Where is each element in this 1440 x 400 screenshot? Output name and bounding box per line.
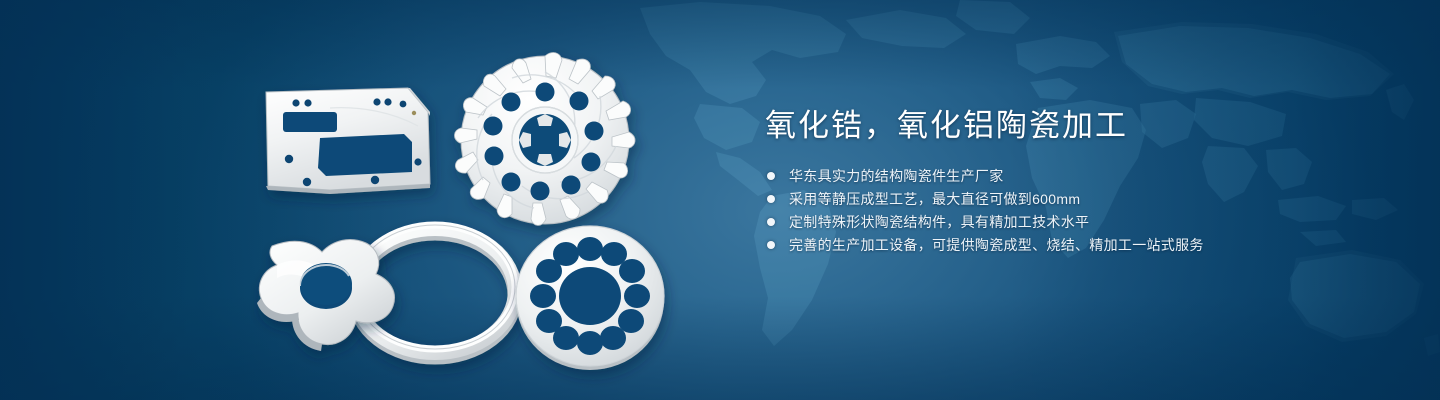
product-photo-cluster	[0, 0, 720, 400]
ceramic-plate-part	[266, 88, 430, 194]
bullet-dot-icon	[767, 218, 775, 226]
list-item-label: 定制特殊形状陶瓷结构件，具有精加工技术水平	[789, 214, 1089, 230]
bullet-dot-icon	[767, 195, 775, 203]
ceramic-perforated-disc-part	[516, 226, 664, 370]
bullet-dot-icon	[767, 241, 775, 249]
list-item: 采用等静压成型工艺，最大直径可做到600mm	[763, 191, 1383, 207]
list-item: 定制特殊形状陶瓷结构件，具有精加工技术水平	[763, 214, 1383, 230]
list-item-label: 采用等静压成型工艺，最大直径可做到600mm	[789, 191, 1080, 207]
feature-list: 华东具实力的结构陶瓷件生产厂家 采用等静压成型工艺，最大直径可做到600mm 定…	[763, 168, 1383, 253]
page-title: 氧化锆，氧化铝陶瓷加工	[765, 106, 1383, 146]
ceramic-impeller-part	[454, 53, 635, 226]
hero-banner: 氧化锆，氧化铝陶瓷加工 华东具实力的结构陶瓷件生产厂家 采用等静压成型工艺，最大…	[0, 0, 1440, 400]
bullet-dot-icon	[767, 172, 775, 180]
list-item: 华东具实力的结构陶瓷件生产厂家	[763, 168, 1383, 184]
list-item: 完善的生产加工设备，可提供陶瓷成型、烧结、精加工一站式服务	[763, 237, 1383, 253]
list-item-label: 完善的生产加工设备，可提供陶瓷成型、烧结、精加工一站式服务	[789, 237, 1204, 253]
banner-copy: 氧化锆，氧化铝陶瓷加工 华东具实力的结构陶瓷件生产厂家 采用等静压成型工艺，最大…	[763, 106, 1383, 260]
list-item-label: 华东具实力的结构陶瓷件生产厂家	[789, 168, 1004, 184]
